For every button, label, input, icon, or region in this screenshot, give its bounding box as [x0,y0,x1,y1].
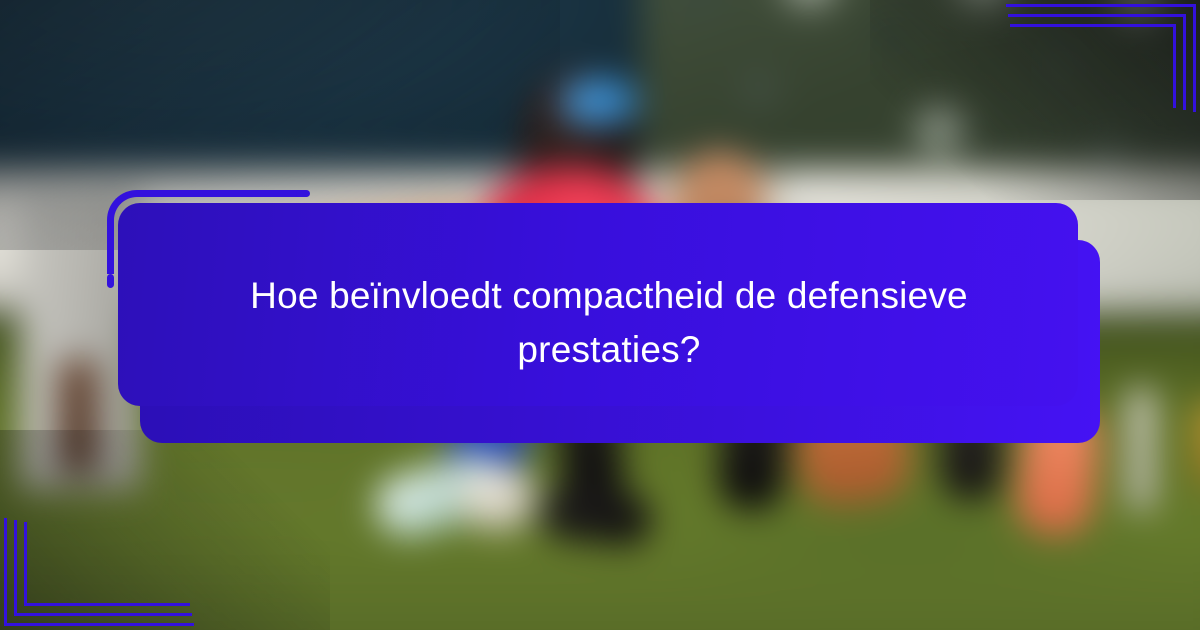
headline-card-group: Hoe beïnvloedt compactheid de defensieve… [0,0,1200,630]
headline-text: Hoe beïnvloedt compactheid de defensieve… [118,203,1100,443]
social-card-canvas: Hoe beïnvloedt compactheid de defensieve… [0,0,1200,630]
